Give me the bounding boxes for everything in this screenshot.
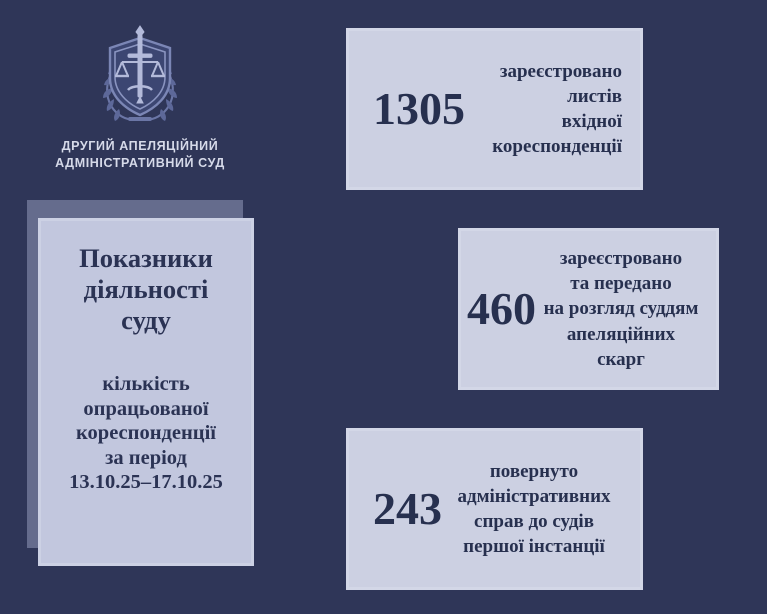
page-subtitle: кількість опрацьованої кореспонденції за… xyxy=(55,372,237,495)
court-shield-emblem xyxy=(94,22,186,126)
title-card: Показники діяльності суду кількість опра… xyxy=(27,200,254,566)
organization-name: ДРУГИЙ АПЕЛЯЦІЙНИЙ АДМІНІСТРАТИВНИЙ СУД xyxy=(30,138,250,171)
stat-description: зареєстровано листів вхідної кореспонден… xyxy=(465,59,640,159)
stat-description: зареєстровано та передано на розгляд суд… xyxy=(536,246,716,371)
page-title: Показники діяльності суду xyxy=(55,243,237,336)
stat-card: 243 повернуто адміністративних справ до … xyxy=(346,428,643,590)
stat-value: 243 xyxy=(349,486,442,532)
stat-value: 1305 xyxy=(349,86,465,132)
stat-description: повернуто адміністративних справ до суді… xyxy=(442,459,640,559)
stat-card: 1305 зареєстровано листів вхідної коресп… xyxy=(346,28,643,190)
stat-card: 460 зареєстровано та передано на розгляд… xyxy=(458,228,719,390)
court-logo-block: ДРУГИЙ АПЕЛЯЦІЙНИЙ АДМІНІСТРАТИВНИЙ СУД xyxy=(30,22,250,171)
title-card-panel: Показники діяльності суду кількість опра… xyxy=(38,218,254,566)
stat-value: 460 xyxy=(461,286,536,332)
